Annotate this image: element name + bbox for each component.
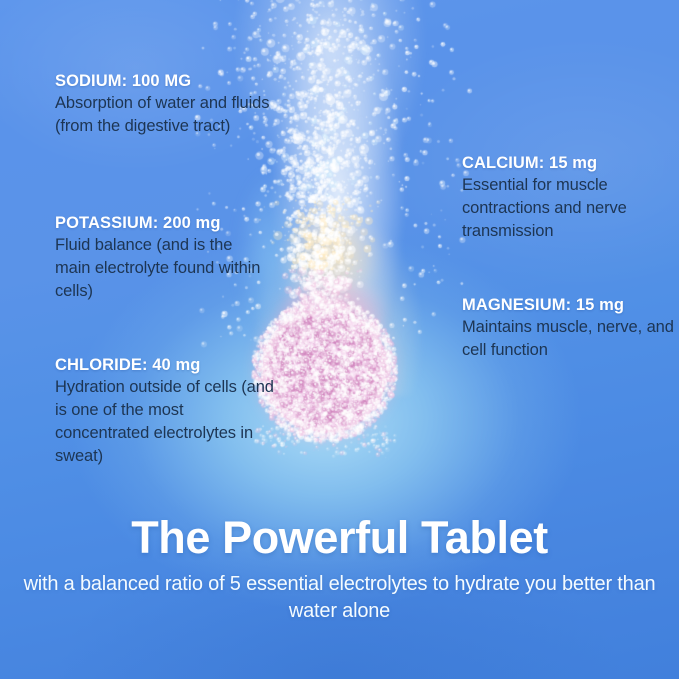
fact-potassium: POTASSIUM: 200 mg Fluid balance (and is …: [55, 214, 270, 303]
fact-magnesium-body: Maintains muscle, nerve, and cell functi…: [462, 316, 679, 362]
fact-chloride-body: Hydration outside of cells (and is one o…: [55, 376, 280, 468]
fact-chloride: CHLORIDE: 40 mg Hydration outside of cel…: [55, 356, 280, 468]
fact-sodium-title: SODIUM: 100 MG: [55, 72, 270, 91]
footer-headline: The Powerful Tablet: [0, 510, 679, 566]
fact-sodium: SODIUM: 100 MG Absorption of water and f…: [55, 72, 270, 138]
fact-potassium-title: POTASSIUM: 200 mg: [55, 214, 270, 233]
fact-sodium-body: Absorption of water and fluids (from the…: [55, 92, 270, 138]
fact-calcium: CALCIUM: 15 mg Essential for muscle cont…: [462, 154, 677, 243]
footer-block: The Powerful Tablet with a balanced rati…: [0, 510, 679, 625]
fact-calcium-body: Essential for muscle contractions and ne…: [462, 174, 677, 243]
fact-magnesium-title: MAGNESIUM: 15 mg: [462, 296, 679, 315]
fact-chloride-title: CHLORIDE: 40 mg: [55, 356, 280, 375]
fact-calcium-title: CALCIUM: 15 mg: [462, 154, 677, 173]
footer-subtitle: with a balanced ratio of 5 essential ele…: [0, 571, 679, 625]
fact-magnesium: MAGNESIUM: 15 mg Maintains muscle, nerve…: [462, 296, 679, 362]
infographic-canvas: SODIUM: 100 MG Absorption of water and f…: [0, 0, 679, 679]
fact-potassium-body: Fluid balance (and is the main electroly…: [55, 234, 270, 303]
